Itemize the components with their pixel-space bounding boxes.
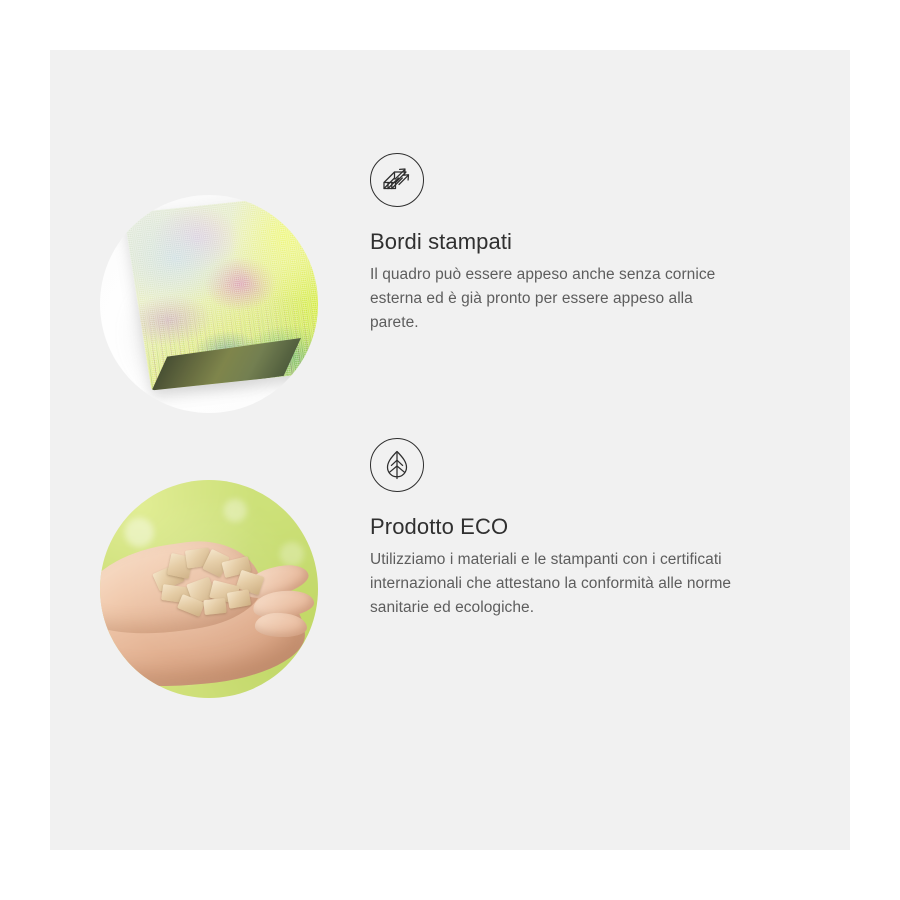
feature-bordi-stampati: Bordi stampati Il quadro può essere appe… bbox=[100, 145, 744, 413]
feature-description: Il quadro può essere appeso anche senza … bbox=[370, 263, 744, 335]
product-feature-panel: Bordi stampati Il quadro può essere appe… bbox=[0, 0, 900, 900]
feature-copy: Bordi stampati Il quadro può essere appe… bbox=[370, 145, 744, 335]
leaf-icon bbox=[370, 438, 424, 492]
feature-prodotto-eco: Prodotto ECO Utilizziamo i materiali e l… bbox=[100, 430, 744, 698]
canvas-corner-photo bbox=[100, 195, 318, 413]
feature-description: Utilizziamo i materiali e le stampanti c… bbox=[370, 548, 744, 620]
feature-copy: Prodotto ECO Utilizziamo i materiali e l… bbox=[370, 430, 744, 620]
canvas-wrapped-edge-icon bbox=[370, 153, 424, 207]
feature-title: Prodotto ECO bbox=[370, 514, 744, 540]
feature-title: Bordi stampati bbox=[370, 229, 744, 255]
hands-holding-wood-chips-photo bbox=[100, 480, 318, 698]
